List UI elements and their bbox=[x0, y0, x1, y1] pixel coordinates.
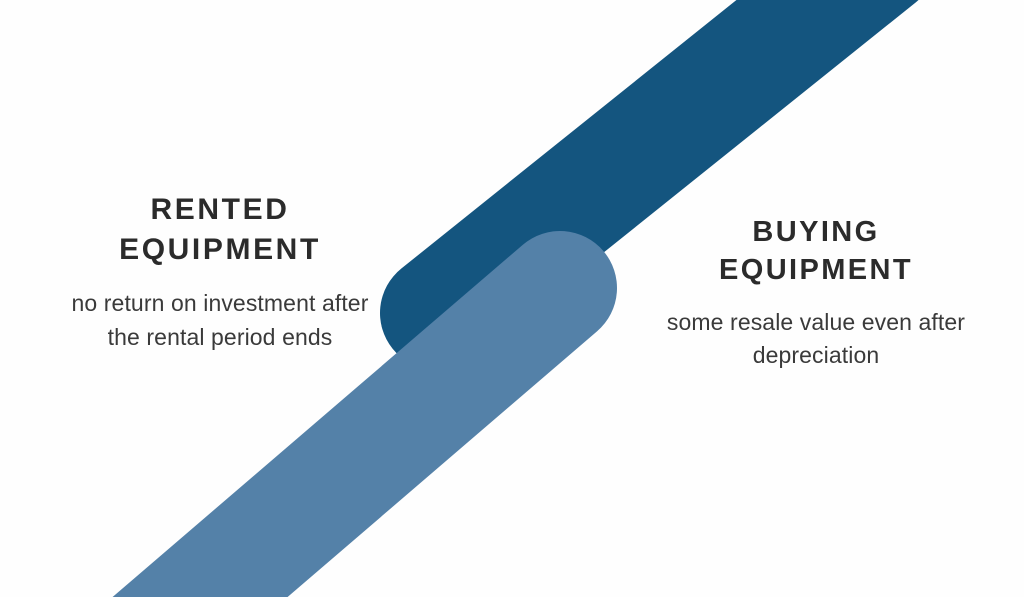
rented-equipment-description: no return on investment after the rental… bbox=[30, 287, 410, 354]
buying-equipment-panel: BUYING EQUIPMENT some resale value even … bbox=[630, 213, 1002, 372]
infographic-canvas: RENTED EQUIPMENT no return on investment… bbox=[0, 0, 1024, 597]
buying-equipment-title: BUYING EQUIPMENT bbox=[630, 213, 1002, 290]
buying-equipment-description: some resale value even after depreciatio… bbox=[630, 306, 1002, 373]
rented-equipment-panel: RENTED EQUIPMENT no return on investment… bbox=[30, 190, 410, 354]
rented-equipment-title: RENTED EQUIPMENT bbox=[30, 190, 410, 269]
